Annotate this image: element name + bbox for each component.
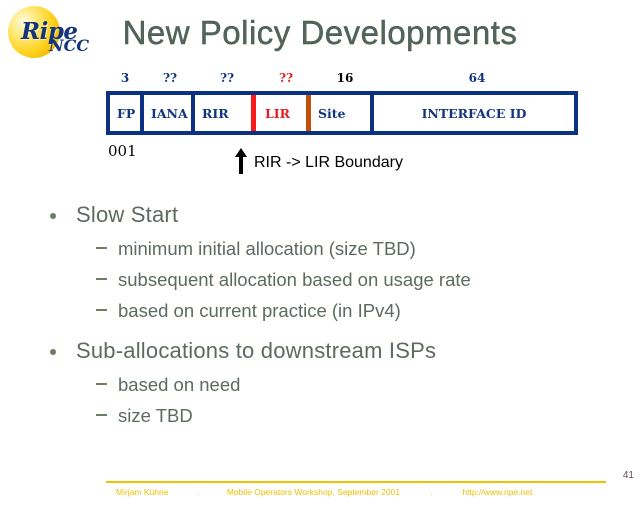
sub-bullet-subsequent-allocation-label: subsequent allocation based on usage rat… <box>118 269 471 290</box>
boundary-note-text: RIR -> LIR Boundary <box>254 154 403 172</box>
dash-bullet-icon <box>96 247 107 249</box>
field-lir-label: LIR <box>265 106 290 121</box>
field-site: Site <box>311 95 374 131</box>
footer-author: Mirjam Kühne <box>116 487 168 497</box>
dash-bullet-icon <box>96 414 107 416</box>
prefix-value-001: 001 <box>108 142 137 160</box>
address-format-diagram: 3 ?? ?? ?? 16 64 FP IANA RIR LIR Site IN… <box>106 71 578 141</box>
slide-body-list: Slow Start minimum initial allocation (s… <box>44 200 604 434</box>
bullet-slow-start-label: Slow Start <box>76 202 178 227</box>
footer-separator-2: . <box>400 487 462 497</box>
field-fp-label: FP <box>117 106 135 121</box>
bit-width-labels: 3 ?? ?? ?? 16 64 <box>106 71 578 91</box>
bit-label-iana: ?? <box>144 71 196 85</box>
page-number: 41 <box>623 470 634 481</box>
bullet-sub-allocations-label: Sub-allocations to downstream ISPs <box>76 338 436 363</box>
slide-title: New Policy Developments <box>0 14 640 52</box>
footer-divider <box>106 481 606 483</box>
field-rir-label: RIR <box>202 106 229 121</box>
bit-label-lir: ?? <box>258 71 314 85</box>
sub-bullet-minimum-initial-allocation-label: minimum initial allocation (size TBD) <box>118 238 416 259</box>
bullet-slow-start: Slow Start <box>44 200 604 230</box>
field-site-label: Site <box>318 106 346 121</box>
bit-label-fp: 3 <box>106 71 144 85</box>
bitfield-bar: FP IANA RIR LIR Site INTERFACE ID <box>106 91 578 135</box>
bit-label-interface: 64 <box>376 71 578 85</box>
field-fp: FP <box>110 95 144 131</box>
dash-bullet-icon <box>96 309 107 311</box>
sub-bullet-based-on-need-label: based on need <box>118 374 240 395</box>
footer-event: Mobile Operators Workshop, September 200… <box>227 487 400 497</box>
sub-bullet-minimum-initial-allocation: minimum initial allocation (size TBD) <box>44 236 604 262</box>
field-iana: IANA <box>144 95 195 131</box>
sub-bullet-current-practice: based on current practice (in IPv4) <box>44 298 604 324</box>
sub-bullet-subsequent-allocation: subsequent allocation based on usage rat… <box>44 267 604 293</box>
field-interface-id-label: INTERFACE ID <box>422 106 527 121</box>
footer-separator-1: . <box>168 487 226 497</box>
sub-bullet-size-tbd-label: size TBD <box>118 405 193 426</box>
bullet-dot-icon <box>50 349 56 355</box>
dash-bullet-icon <box>96 278 107 280</box>
field-interface-id: INTERFACE ID <box>374 95 574 131</box>
field-iana-label: IANA <box>151 106 188 121</box>
bullet-dot-icon <box>50 213 56 219</box>
field-rir: RIR <box>195 95 251 131</box>
bullet-sub-allocations: Sub-allocations to downstream ISPs <box>44 336 604 366</box>
footer: Mirjam Kühne . Mobile Operators Workshop… <box>116 487 616 497</box>
dash-bullet-icon <box>96 383 107 385</box>
sub-bullet-current-practice-label: based on current practice (in IPv4) <box>118 300 401 321</box>
arrow-up-icon <box>234 148 248 174</box>
sub-bullet-based-on-need: based on need <box>44 372 604 398</box>
bit-label-rir: ?? <box>196 71 258 85</box>
bit-label-site: 16 <box>314 71 376 85</box>
rir-lir-boundary-annotation: RIR -> LIR Boundary <box>234 152 403 174</box>
field-lir: LIR <box>256 95 306 131</box>
sub-bullet-size-tbd: size TBD <box>44 403 604 429</box>
footer-url[interactable]: http://www.ripe.net <box>462 487 532 497</box>
